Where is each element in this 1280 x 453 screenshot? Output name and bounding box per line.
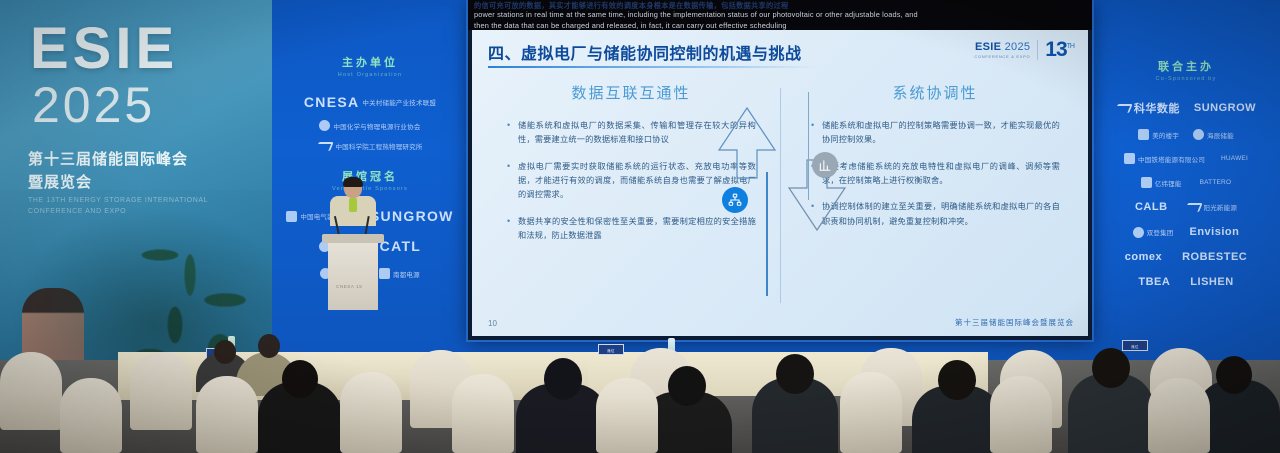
table-name-card: 席位 xyxy=(598,344,624,355)
logo-mark-round-icon xyxy=(1133,227,1144,238)
esie-title-cn-line1: 第十三届储能国际峰会 xyxy=(28,148,188,171)
host-organization-heading-cn: 主办单位 xyxy=(272,54,468,70)
co-sponsor-heading-cn: 联合主办 xyxy=(1092,58,1280,74)
audience-member-head xyxy=(1092,348,1130,388)
audience-chair xyxy=(340,372,402,453)
esie-wordmark: ESIE xyxy=(30,22,178,75)
logo-hithium-sub: 海辰储能 xyxy=(1207,130,1234,140)
logo-huawei-wordmark: HUAWEI xyxy=(1221,155,1248,162)
slide-esie-text: ESIE xyxy=(975,41,1001,53)
host-organization-heading-en: Host Organization xyxy=(272,72,468,78)
slide-footer-text: 第十三届储能国际峰会暨展览会 xyxy=(955,317,1074,328)
audience-member-head xyxy=(668,366,706,406)
logo-tbea: TBEA xyxy=(1138,276,1170,288)
seated-person-head xyxy=(214,340,236,364)
co-sponsor-heading: 联合主办 Co-Sponsored by xyxy=(1092,58,1280,82)
podium: CNESA 15 xyxy=(322,212,384,310)
slide-esie-logo: ESIE 2025 CONFERENCE & EXPO xyxy=(974,42,1030,59)
logo-calb-wordmark: CALB xyxy=(1135,201,1168,213)
audience-chair xyxy=(130,352,192,430)
logo-envision-wordmark: Envision xyxy=(1189,226,1239,238)
logo-mark-square-icon xyxy=(1141,177,1152,188)
slide-edition-badge: 13TH xyxy=(1045,38,1074,62)
logo-sungrow-new-energy-sub: 阳光新能源 xyxy=(1204,202,1238,212)
speaker-hair xyxy=(343,177,363,187)
audience-chair xyxy=(990,376,1052,453)
logo-cnesa: CNESA 中关村储能产业技术联盟 xyxy=(304,94,436,110)
logo-battero-wordmark: BATTERO xyxy=(1200,179,1232,186)
table-name-card: 席位 xyxy=(1122,340,1148,351)
logo-sungrow-new-energy: 阳光新能源 xyxy=(1186,202,1238,212)
logo-sungrow-right: SUNGROW xyxy=(1194,102,1256,114)
logo-mark-swoosh-icon xyxy=(1114,104,1133,113)
logo-mark-round-icon xyxy=(319,120,330,131)
audience-member-head xyxy=(776,354,814,394)
caption-chinese: 的信可充可放的数据，其实才能够进行有效的调度本身根本是在数据传输，包括数据共享的… xyxy=(474,1,1086,10)
caption-english-line1: power stations in real time at the same … xyxy=(474,10,1086,21)
logo-mark-square-icon xyxy=(1138,129,1149,140)
logo-shuangdeng: 双登集团 xyxy=(1133,227,1174,238)
logo-lishen: LISHEN xyxy=(1190,276,1233,288)
audience-chair xyxy=(196,376,258,453)
logo-midea-sub: 美的楼宇 xyxy=(1152,130,1179,140)
audience-chair xyxy=(840,372,902,453)
logo-hithium: 海辰储能 xyxy=(1193,129,1234,140)
speaker-lanyard xyxy=(349,198,357,212)
audience-chair xyxy=(1148,378,1210,453)
audience-chair xyxy=(0,352,62,430)
microphone-right-icon xyxy=(364,216,369,236)
logo-mark-swoosh-icon xyxy=(316,142,335,151)
logo-tbea-wordmark: TBEA xyxy=(1138,276,1170,288)
logo-huawei: HUAWEI xyxy=(1221,155,1248,162)
logo-china-tower-sub: 中国铁塔能源有限公司 xyxy=(1138,154,1205,164)
esie-title-en: THE 13TH ENERGY STORAGE INTERNATIONAL CO… xyxy=(28,196,208,217)
slide-edition-suffix: TH xyxy=(1067,43,1074,50)
logo-cnesa-sub: 中关村储能产业技术联盟 xyxy=(362,97,436,107)
slide-esie-year: 2025 xyxy=(1005,41,1031,53)
audience-member-head xyxy=(282,360,318,398)
logo-mark-square-icon xyxy=(286,211,297,222)
live-caption-bar: 的信可充可放的数据，其实才能够进行有效的调度本身根本是在数据传输，包括数据共享的… xyxy=(468,0,1092,30)
logo-cnesa-secondary-sub: 中国化学与物理电源行业协会 xyxy=(333,121,420,131)
audience-member-head xyxy=(544,358,582,400)
podium-logo-text: CNESA 15 xyxy=(336,284,362,289)
logo-robestec-wordmark: ROBESTEC xyxy=(1182,251,1247,263)
host-organization-heading: 主办单位 Host Organization xyxy=(272,54,468,78)
logo-cas-institute: 中国科学院工程热物理研究所 xyxy=(317,141,422,151)
logo-shuangdeng-sub: 双登集团 xyxy=(1147,227,1174,237)
slide-edition-number: 13 xyxy=(1045,38,1066,61)
esie-brand-panel: ESIE 2025 第十三届储能国际峰会 暨展览会 THE 13TH ENERG… xyxy=(0,0,272,368)
arrow-stem-blue xyxy=(766,172,768,296)
logo-kehua-wordmark: 科华数能 xyxy=(1134,100,1180,116)
audience-member-head xyxy=(1216,356,1252,394)
slide-title: 四、虚拟电厂与储能协同控制的机遇与挑战 xyxy=(488,40,802,64)
slide-brand-logo: ESIE 2025 CONFERENCE & EXPO 13TH xyxy=(974,38,1074,62)
esie-title-cn-line2: 暨展览会 xyxy=(28,171,188,194)
logo-mark-round-icon xyxy=(1193,129,1204,140)
logo-comex-wordmark: comex xyxy=(1125,251,1162,263)
logo-comex: comex xyxy=(1125,251,1162,263)
slide-page-number: 10 xyxy=(488,319,497,328)
logo-battero: BATTERO xyxy=(1200,179,1232,186)
logo-catl-wordmark: CATL xyxy=(380,238,422,254)
podium-body xyxy=(328,243,378,310)
projection-screen: 的信可充可放的数据，其实才能够进行有效的调度本身根本是在数据传输，包括数据共享的… xyxy=(468,0,1092,340)
logo-lishen-wordmark: LISHEN xyxy=(1190,276,1233,288)
logo-cnesa-secondary: 中国化学与物理电源行业协会 xyxy=(319,120,420,131)
slide-esie-tagline: CONFERENCE & EXPO xyxy=(974,55,1030,59)
logo-kehua: 科华数能 xyxy=(1116,100,1180,116)
esie-title-en-line1: THE 13TH ENERGY STORAGE INTERNATIONAL xyxy=(28,196,208,207)
microphone-left-icon xyxy=(334,216,340,236)
title-underline xyxy=(488,66,818,68)
logo-robestec: ROBESTEC xyxy=(1182,251,1247,263)
decorative-stripes xyxy=(782,132,866,322)
conference-hall-photo: ESIE 2025 第十三届储能国际峰会 暨展览会 THE 13TH ENERG… xyxy=(0,0,1280,453)
logo-midea: 美的楼宇 xyxy=(1138,129,1179,140)
logo-narada: 南都电源 xyxy=(379,268,420,279)
podium-top xyxy=(322,234,384,243)
network-icon xyxy=(722,187,748,213)
logo-mark-swoosh-icon xyxy=(1184,203,1203,212)
up-arrow-shape xyxy=(716,106,778,180)
logo-sungrow-right-wordmark: SUNGROW xyxy=(1194,102,1256,114)
slide-center-graphic xyxy=(700,92,870,297)
esie-year: 2025 xyxy=(32,80,155,130)
co-sponsor-heading-en: Co-Sponsored by xyxy=(1092,76,1280,82)
logo-catl: CATL xyxy=(380,238,422,254)
logo-cas-institute-sub: 中国科学院工程热物理研究所 xyxy=(335,141,422,151)
logo-calb: CALB xyxy=(1135,201,1168,213)
logo-mark-square-icon xyxy=(1124,153,1135,164)
logo-divider xyxy=(1037,40,1038,60)
logo-cnesa-wordmark: CNESA xyxy=(304,94,360,110)
palm-plant xyxy=(120,215,270,368)
slide-esie-wordmark: ESIE 2025 xyxy=(974,42,1030,53)
logo-eve: 亿纬锂能 xyxy=(1141,177,1182,188)
presentation-slide: 四、虚拟电厂与储能协同控制的机遇与挑战 ESIE 2025 CONFERENCE… xyxy=(472,30,1088,336)
seated-person-head xyxy=(258,334,280,358)
logo-china-tower: 中国铁塔能源有限公司 xyxy=(1124,153,1205,164)
audience-member-head xyxy=(938,360,976,400)
logo-narada-sub: 南都电源 xyxy=(393,269,420,279)
logo-envision: Envision xyxy=(1189,226,1239,238)
audience-chair xyxy=(596,378,658,453)
esie-title-cn: 第十三届储能国际峰会 暨展览会 xyxy=(28,148,188,195)
audience-chair xyxy=(452,374,514,453)
esie-title-en-line2: CONFERENCE AND EXPO xyxy=(28,207,208,218)
caption-english-line2: then the data that can be charged and re… xyxy=(474,21,1086,30)
sponsor-banner-right: 联合主办 Co-Sponsored by 科华数能 SUNGROW 美的楼宇 海… xyxy=(1092,0,1280,368)
audience-chair xyxy=(60,378,122,453)
logo-eve-sub: 亿纬锂能 xyxy=(1155,178,1182,188)
